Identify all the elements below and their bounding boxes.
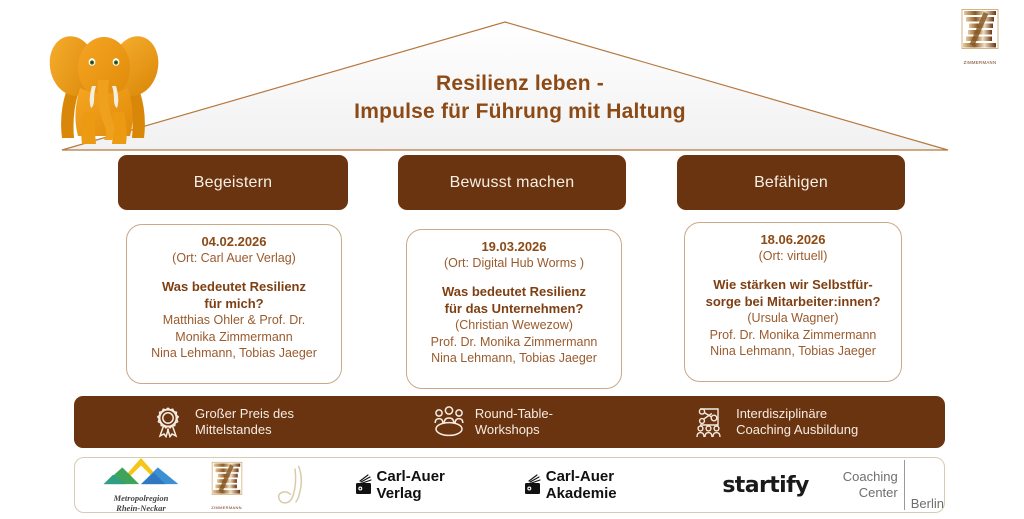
ccb-left-text: Coaching Center (843, 469, 904, 501)
group-people-icon (432, 405, 466, 439)
partner-logo-bar: Metropolregion Rhein-Neckar (74, 457, 945, 513)
feature-label: Großer Preis des Mittelstandes (195, 406, 294, 439)
session-location: (Ort: Digital Hub Worms ) (413, 255, 615, 272)
zimmermann-logo-caption: ZIMMERMANN (950, 60, 1010, 65)
session-location: (Ort: Carl Auer Verlag) (133, 250, 335, 267)
ccb-line1: Coaching (843, 469, 898, 485)
carl-auer-verlag-logo[interactable]: Carl-Auer Verlag (354, 458, 489, 512)
session-card[interactable]: 04.02.2026 (Ort: Carl Auer Verlag) Was b… (126, 224, 342, 384)
carl-auer-akademie-logo[interactable]: Carl-Auer Akademie (523, 458, 683, 512)
session-question-line1: Was bedeutet Resilienz (413, 284, 615, 301)
zimmermann-z-icon (207, 461, 247, 499)
calligraphy-mark-logo[interactable] (260, 458, 329, 512)
session-question-line1: Wie stärken wir Selbstfür- (691, 277, 895, 294)
session-question: Was bedeutet Resilienz für mich? (133, 279, 335, 313)
feature-item-award[interactable]: Großer Preis des Mittelstandes (152, 405, 432, 439)
session-card[interactable]: 19.03.2026 (Ort: Digital Hub Worms ) Was… (406, 229, 622, 389)
session-speaker: Matthias Ohler & Prof. Dr. (133, 312, 335, 329)
feature-label-line2: Workshops (475, 422, 553, 438)
session-speaker: (Ursula Wagner) (691, 310, 895, 327)
startify-logo[interactable]: startify (722, 458, 808, 512)
elephant-illustration-icon (44, 20, 164, 150)
feature-label-line1: Interdisziplinäre (736, 406, 858, 422)
page-title: Resilienz leben - Impulse für Führung mi… (250, 70, 790, 127)
session-date: 18.06.2026 (691, 231, 895, 248)
ccb-line3: Berlin (911, 496, 944, 512)
feature-item-coaching[interactable]: Interdisziplinäre Coaching Ausbildung (693, 405, 945, 439)
pillar-header-befaehigen[interactable]: Befähigen (677, 155, 905, 210)
session-date: 04.02.2026 (133, 233, 335, 250)
feature-label-line2: Coaching Ausbildung (736, 422, 858, 438)
feature-label-line2: Mittelstandes (195, 422, 294, 438)
metropolregion-line2: Rhein-Neckar (98, 504, 184, 514)
card-spacer (691, 265, 895, 277)
page-title-line2: Impulse für Führung mit Haltung (250, 98, 790, 126)
zimmermann-logo[interactable]: ZIMMERMANN (193, 458, 260, 512)
session-question: Was bedeutet Resilienz für das Unternehm… (413, 284, 615, 318)
session-speaker: Nina Lehmann, Tobias Jaeger (133, 345, 335, 362)
ccb-divider (904, 460, 905, 510)
feature-label-line1: Round-Table- (475, 406, 553, 422)
session-speaker: Nina Lehmann, Tobias Jaeger (413, 350, 615, 367)
page-title-line1: Resilienz leben - (436, 72, 604, 95)
carl-auer-book-icon (523, 474, 543, 496)
carl-auer-verlag-label: Carl-Auer Verlag (377, 468, 489, 502)
feature-label: Round-Table- Workshops (475, 406, 553, 439)
feature-bar: Großer Preis des Mittelstandes Round-Tab… (74, 396, 945, 448)
carl-auer-book-icon (354, 474, 374, 496)
feature-item-roundtable[interactable]: Round-Table- Workshops (432, 405, 693, 439)
session-question: Wie stärken wir Selbstfür- sorge bei Mit… (691, 277, 895, 311)
session-card[interactable]: 18.06.2026 (Ort: virtuell) Wie stärken w… (684, 222, 902, 382)
session-location: (Ort: virtuell) (691, 248, 895, 265)
session-speaker: (Christian Wewezow) (413, 317, 615, 334)
pillar-header-label: Befähigen (754, 174, 828, 192)
card-spacer (133, 267, 335, 279)
session-speaker: Nina Lehmann, Tobias Jaeger (691, 343, 895, 360)
coaching-center-berlin-logo[interactable]: Coaching Center Berlin (843, 458, 944, 512)
session-speaker: Prof. Dr. Monika Zimmermann (691, 327, 895, 344)
session-date: 19.03.2026 (413, 238, 615, 255)
card-spacer (413, 272, 615, 284)
pillar-header-label: Bewusst machen (450, 174, 575, 192)
pillar-header-label: Begeistern (194, 174, 273, 192)
calligraphy-mark-icon (267, 463, 323, 507)
session-speaker: Prof. Dr. Monika Zimmermann (413, 334, 615, 351)
mountain-logo-icon (98, 456, 184, 488)
session-question-line1: Was bedeutet Resilienz (133, 279, 335, 296)
zimmermann-logo: ZIMMERMANN (950, 8, 1010, 70)
pillar-header-bewusst-machen[interactable]: Bewusst machen (398, 155, 626, 210)
session-question-line2: für das Unternehmen? (413, 301, 615, 318)
zimmermann-logo-caption: ZIMMERMANN (207, 505, 247, 510)
metropolregion-logo-text: Metropolregion Rhein-Neckar (98, 494, 184, 514)
session-speaker: Monika Zimmermann (133, 329, 335, 346)
feature-label: Interdisziplinäre Coaching Ausbildung (736, 406, 858, 439)
ccb-line2: Center (843, 485, 898, 501)
feature-label-line1: Großer Preis des (195, 406, 294, 422)
network-people-icon (693, 405, 727, 439)
zimmermann-z-icon (956, 8, 1004, 54)
pillar-header-begeistern[interactable]: Begeistern (118, 155, 348, 210)
carl-auer-akademie-label: Carl-Auer Akademie (546, 468, 683, 502)
startify-label: startify (722, 473, 808, 498)
metropolregion-rhein-neckar-logo[interactable]: Metropolregion Rhein-Neckar (89, 458, 193, 512)
award-rosette-icon (152, 405, 186, 439)
session-question-line2: sorge bei Mitarbeiter:innen? (691, 294, 895, 311)
session-question-line2: für mich? (133, 296, 335, 313)
